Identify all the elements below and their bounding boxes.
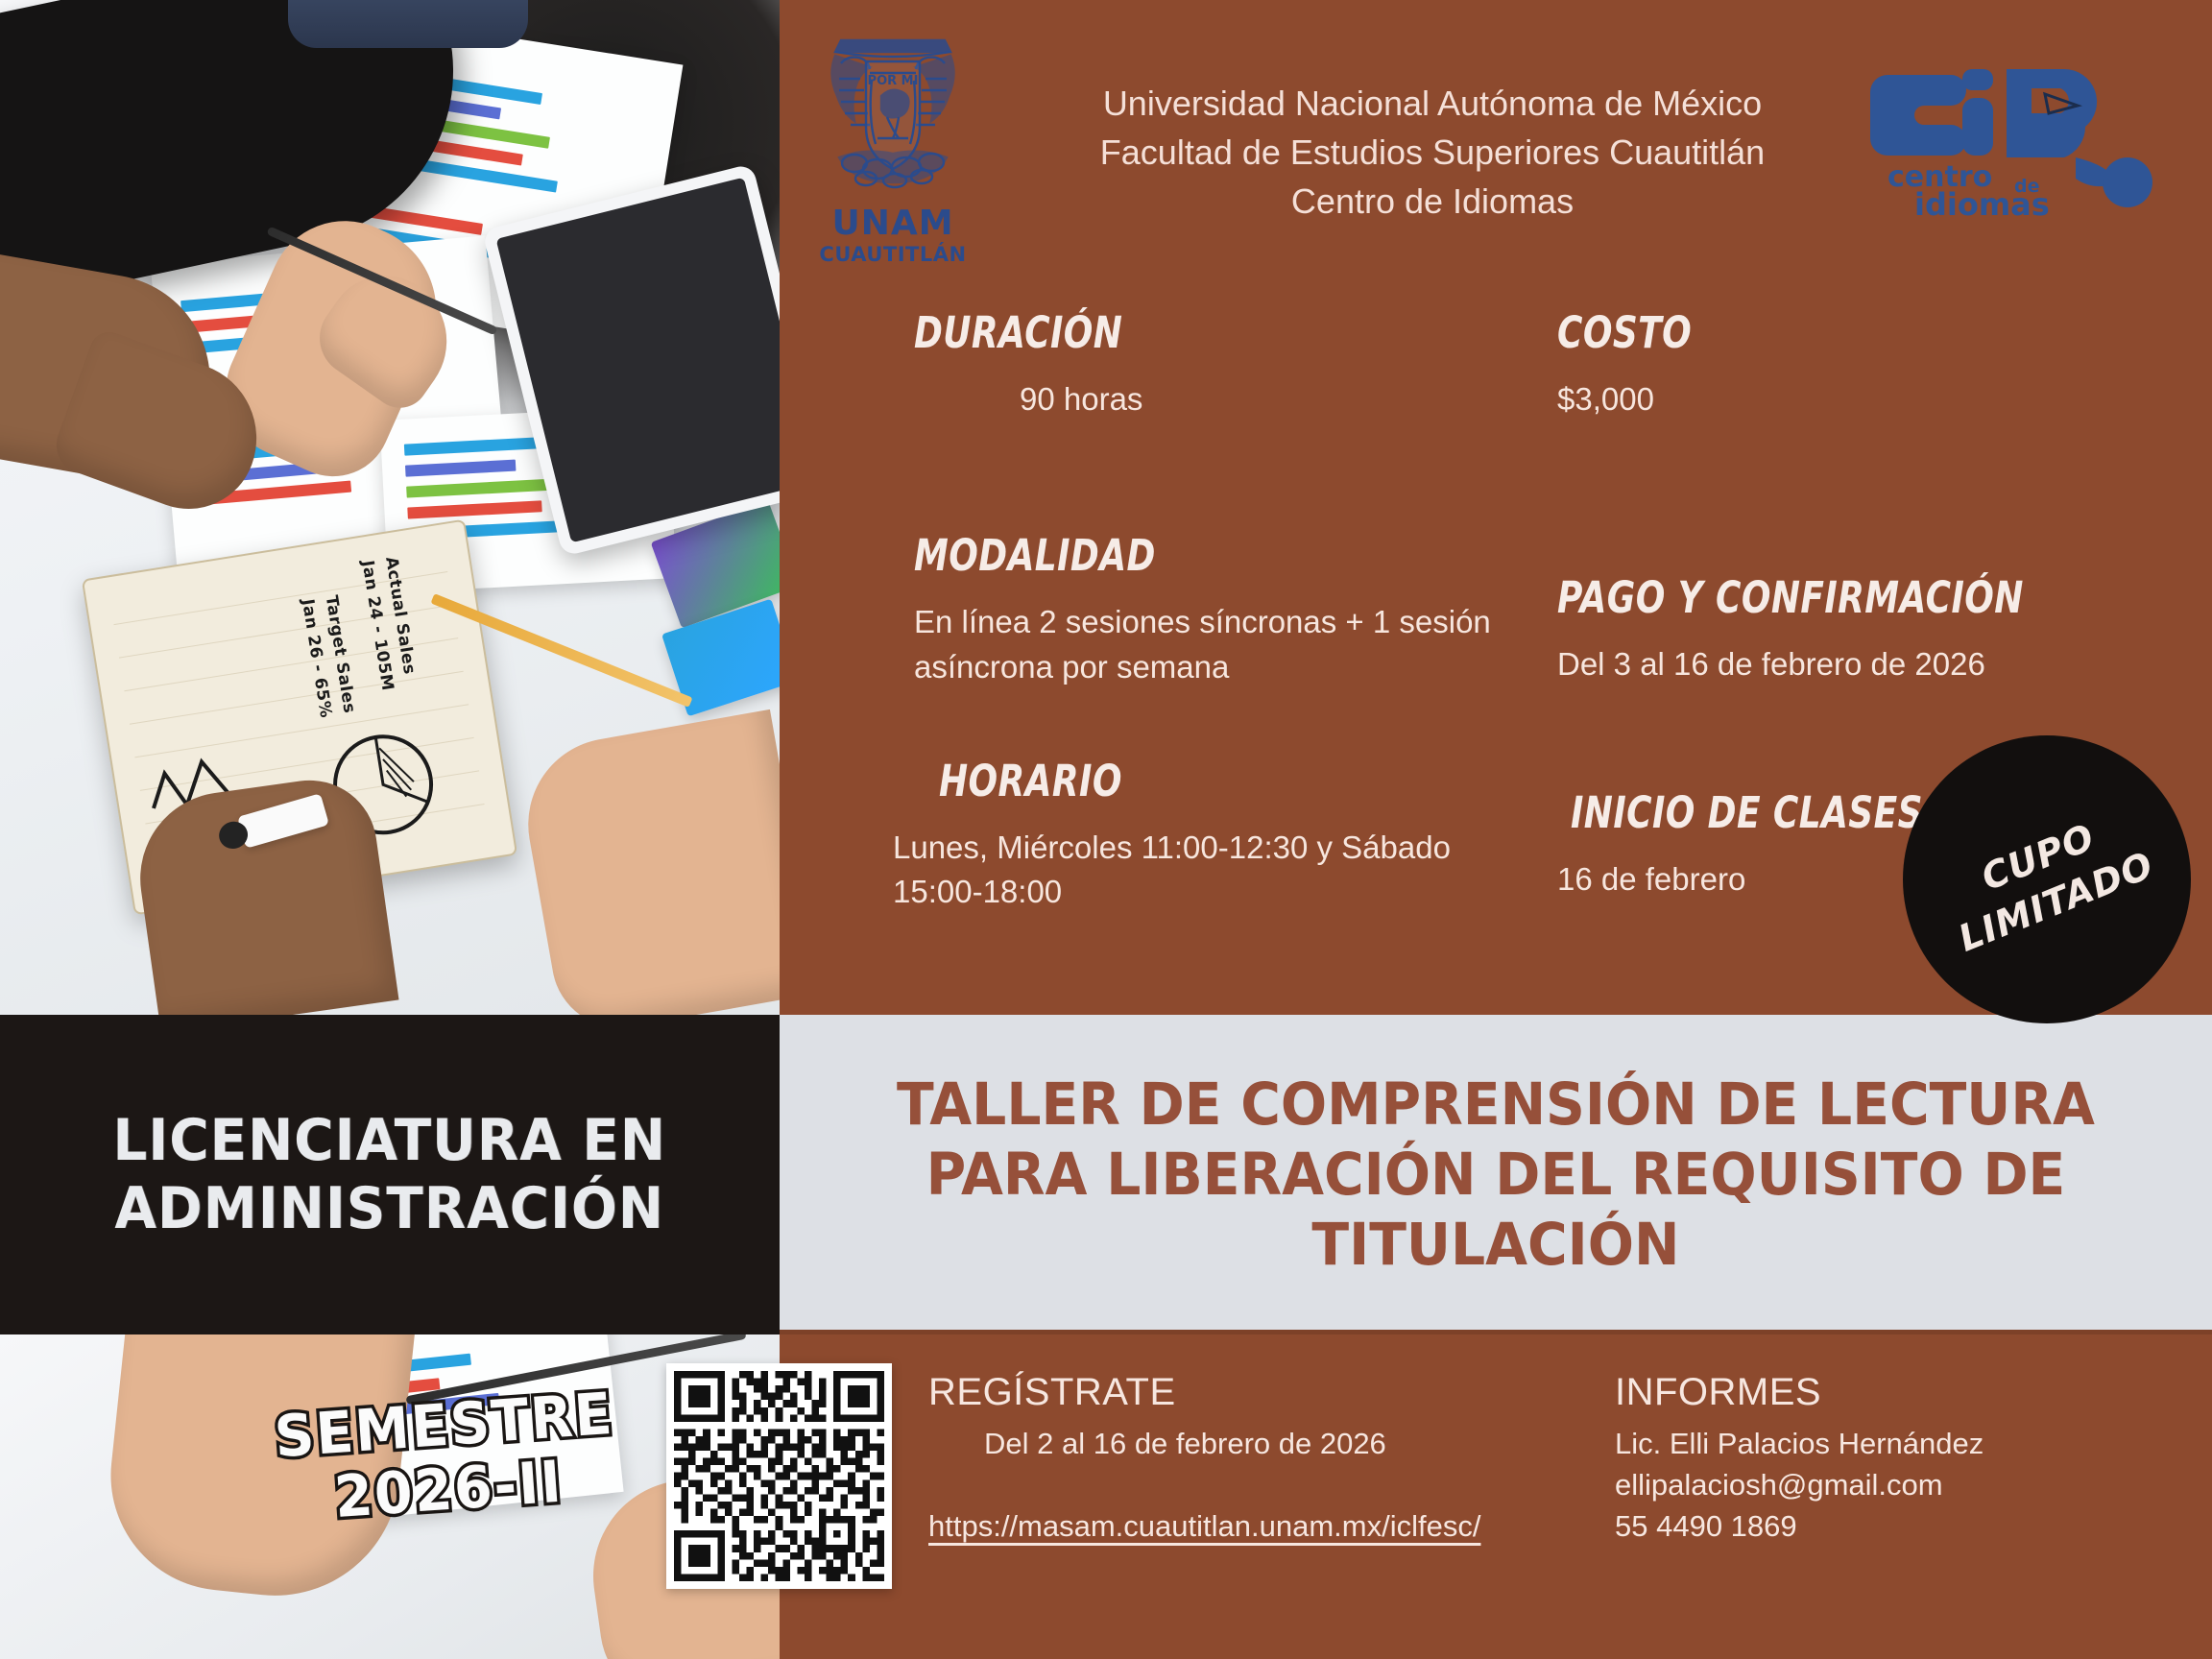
jeans-edge xyxy=(288,0,528,48)
info-body-duracion: 90 horas xyxy=(1020,377,1538,422)
main-title: TALLER DE COMPRENSIÓN DE LECTURA PARA LI… xyxy=(861,1070,2130,1281)
contact-heading: INFORMES xyxy=(1615,1371,2152,1414)
info-heading-pago: PAGO Y CONFIRMACIÓN xyxy=(1557,572,2056,623)
institution-line-1: Universidad Nacional Autónoma de México xyxy=(1000,79,1864,128)
institution-line-2: Facultad de Estudios Superiores Cuautitl… xyxy=(1000,128,1864,177)
cupo-limitado-badge: CUPO LIMITADO xyxy=(1903,735,2191,1023)
institution-lines: Universidad Nacional Autónoma de México … xyxy=(1000,79,1864,226)
info-column-left: DURACIÓN 90 horas MODALIDAD En línea 2 s… xyxy=(914,307,1538,923)
register-url-link[interactable]: https://masam.cuautitlan.unam.mx/iclfesc… xyxy=(928,1509,1480,1544)
degree-line-1: LICENCIATURA EN xyxy=(113,1107,667,1175)
svg-text:idiomas: idiomas xyxy=(1914,186,2050,223)
unam-word-primary: UNAM xyxy=(806,204,979,243)
info-heading-horario: HORARIO xyxy=(939,756,1418,806)
info-body-costo: $3,000 xyxy=(1557,377,2181,422)
info-block-horario: HORARIO Lunes, Miércoles 11:00-12:30 y S… xyxy=(914,756,1538,916)
cupo-badge-text: CUPO LIMITADO xyxy=(1934,796,2161,962)
contact-email: ellipalaciosh@gmail.com xyxy=(1615,1465,2152,1506)
register-dates: Del 2 al 16 de febrero de 2026 xyxy=(984,1424,1543,1465)
info-block-costo: COSTO $3,000 xyxy=(1557,307,2181,422)
contact-name: Lic. Elli Palacios Hernández xyxy=(1615,1424,2152,1465)
degree-band: LICENCIATURA EN ADMINISTRACIÓN xyxy=(0,1015,780,1334)
main-title-line-1: TALLER DE COMPRENSIÓN DE LECTURA xyxy=(897,1070,2095,1140)
degree-line-2: ADMINISTRACIÓN xyxy=(113,1175,667,1243)
main-title-line-2: PARA LIBERACIÓN DEL REQUISITO DE xyxy=(897,1140,2095,1210)
degree-title: LICENCIATURA EN ADMINISTRACIÓN xyxy=(113,1107,667,1243)
cib-logo: centro de idiomas xyxy=(1866,40,2154,223)
poster-header: POR MI UNAM CUAUTITLÁN xyxy=(780,0,2212,288)
institution-line-3: Centro de Idiomas xyxy=(1000,177,1864,226)
contact-phone: 55 4490 1869 xyxy=(1615,1506,2152,1548)
svg-text:POR MI: POR MI xyxy=(868,74,919,88)
info-block-duracion: DURACIÓN 90 horas xyxy=(914,307,1538,422)
main-title-panel: TALLER DE COMPRENSIÓN DE LECTURA PARA LI… xyxy=(780,1015,2212,1334)
info-body-modalidad: En línea 2 sesiones síncronas + 1 sesión… xyxy=(914,600,1538,690)
register-block: REGÍSTRATE Del 2 al 16 de febrero de 202… xyxy=(928,1371,1543,1544)
info-heading-costo: COSTO xyxy=(1557,307,2056,358)
register-heading: REGÍSTRATE xyxy=(928,1371,1543,1414)
poster-root: Actual Sales Jan 24 - 105M Target Sales … xyxy=(0,0,2212,1659)
unam-word-secondary: CUAUTITLÁN xyxy=(806,243,979,266)
main-title-line-3: TITULACIÓN xyxy=(897,1210,2095,1280)
info-block-pago: PAGO Y CONFIRMACIÓN Del 3 al 16 de febre… xyxy=(1557,572,2181,687)
contact-block: INFORMES Lic. Elli Palacios Hernández el… xyxy=(1615,1371,2152,1547)
info-body-pago: Del 3 al 16 de febrero de 2026 xyxy=(1557,642,2181,687)
info-heading-modalidad: MODALIDAD xyxy=(914,530,1413,581)
poster-footer: REGÍSTRATE Del 2 al 16 de febrero de 202… xyxy=(780,1334,2212,1659)
unam-wordmark: UNAM CUAUTITLÁN xyxy=(806,204,979,266)
info-heading-duracion: DURACIÓN xyxy=(914,307,1413,358)
qr-code-icon[interactable] xyxy=(666,1363,892,1589)
business-meeting-photo-top: Actual Sales Jan 24 - 105M Target Sales … xyxy=(0,0,780,1015)
info-body-horario: Lunes, Miércoles 11:00-12:30 y Sábado 15… xyxy=(893,826,1538,916)
info-block-modalidad: MODALIDAD En línea 2 sesiones síncronas … xyxy=(914,530,1538,690)
